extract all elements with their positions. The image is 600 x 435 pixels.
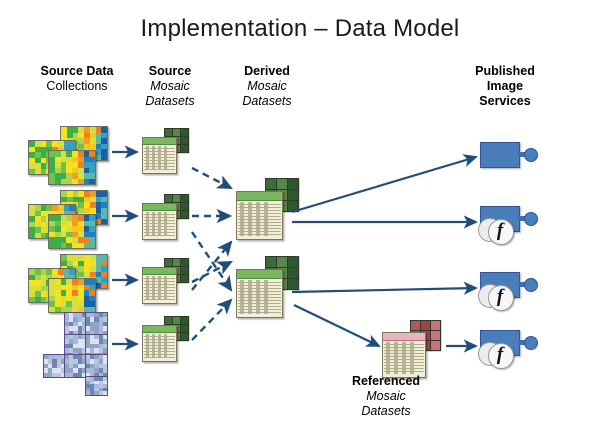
arrow-derive-6 <box>192 300 231 340</box>
arrow-publish-1 <box>292 157 476 212</box>
arrow-publish-3 <box>292 288 476 292</box>
connector-arrows <box>0 0 600 435</box>
arrow-derive-4 <box>192 262 231 282</box>
diagram-canvas: Implementation – Data Model Source Data … <box>0 0 600 435</box>
arrow-publish-4 <box>294 305 379 346</box>
arrow-derive-5 <box>192 232 231 290</box>
arrow-derive-1 <box>192 168 231 188</box>
